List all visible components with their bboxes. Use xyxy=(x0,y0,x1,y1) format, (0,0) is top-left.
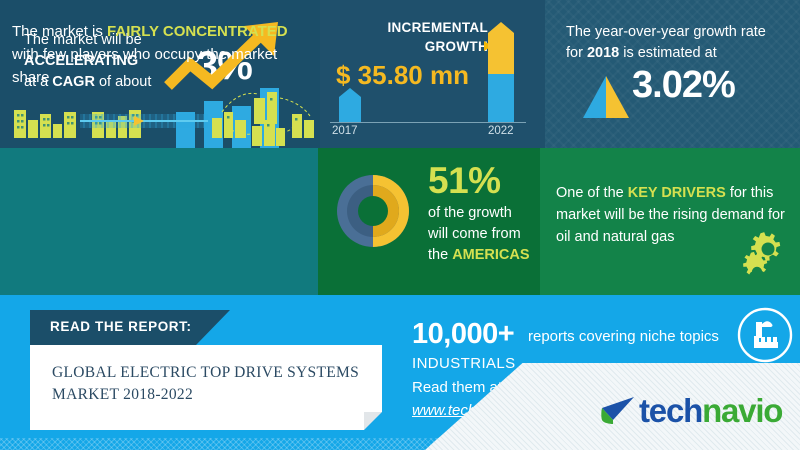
panel-concentration xyxy=(0,148,318,295)
incremental-growth-value: $ 35.80 mn xyxy=(336,60,469,91)
gears-icon xyxy=(735,232,791,284)
yoy-text-b: for xyxy=(566,45,587,61)
yoy-statement: The year-over-year growth rate for 2018 … xyxy=(566,22,786,64)
americas-line1: of the growth xyxy=(428,205,512,221)
incremental-label-line1: INCREMENTAL xyxy=(387,20,488,35)
category-label: INDUSTRIALS xyxy=(412,355,516,372)
factory-circle-icon xyxy=(736,306,794,364)
report-title-line2: MARKET 2018-2022 xyxy=(52,386,193,403)
yoy-value: 3.02% xyxy=(632,64,735,107)
conc-text-bold: FAIRLY CONCENTRATED xyxy=(107,23,288,40)
read-the-report-label: READ THE REPORT: xyxy=(50,319,192,334)
yoy-text-a: The year-over-year growth rate xyxy=(566,24,766,40)
americas-label: AMERICAS xyxy=(452,247,529,263)
year-label-end: 2022 xyxy=(488,125,514,137)
incremental-growth-label: INCREMENTAL GROWTH xyxy=(338,18,488,56)
column-2022 xyxy=(488,22,514,122)
kd-text-a: One of the xyxy=(556,185,628,201)
kd-text-bold: KEY DRIVERS xyxy=(628,185,726,201)
city-buildings-consolidation-icon xyxy=(0,88,318,147)
americas-donut-chart xyxy=(327,165,419,257)
page-fold-corner xyxy=(364,412,382,430)
growth-triangle-icon xyxy=(583,76,629,118)
year-label-start: 2017 xyxy=(332,125,358,137)
report-title: GLOBAL ELECTRIC TOP DRIVE SYSTEMS MARKET… xyxy=(52,362,362,406)
report-card[interactable]: GLOBAL ELECTRIC TOP DRIVE SYSTEMS MARKET… xyxy=(30,345,382,430)
americas-line2: will come from xyxy=(428,226,521,242)
incremental-label-line2: GROWTH xyxy=(425,39,488,54)
logo-text-navio: navio xyxy=(702,392,782,430)
logo-text-tech: tech xyxy=(639,392,702,430)
chart-axis-line xyxy=(330,122,526,123)
read-the-report-ribbon: READ THE REPORT: xyxy=(30,310,230,345)
concentration-statement: The market is FAIRLY CONCENTRATED with f… xyxy=(12,20,304,89)
conc-text-b: with few players who occupy the market s… xyxy=(12,46,277,86)
column-2017 xyxy=(339,88,361,122)
yoy-text-c: is estimated at xyxy=(619,45,717,61)
technavio-arrow-icon xyxy=(600,396,636,426)
americas-percentage: 51% xyxy=(428,160,501,202)
report-count-suffix: reports covering niche topics xyxy=(528,328,719,345)
report-count: 10,000+ xyxy=(412,318,514,351)
technavio-logo[interactable]: technavio xyxy=(600,392,782,430)
infographic-root: The market will be ACCELERATING at a CAG… xyxy=(0,0,800,450)
americas-line3-plain: the xyxy=(428,247,452,263)
americas-statement: of the growth will come from the AMERICA… xyxy=(428,203,543,266)
conc-text-a: The market is xyxy=(12,23,107,40)
report-title-line1: GLOBAL ELECTRIC TOP DRIVE SYSTEMS xyxy=(52,364,359,381)
yoy-year: 2018 xyxy=(587,45,619,61)
